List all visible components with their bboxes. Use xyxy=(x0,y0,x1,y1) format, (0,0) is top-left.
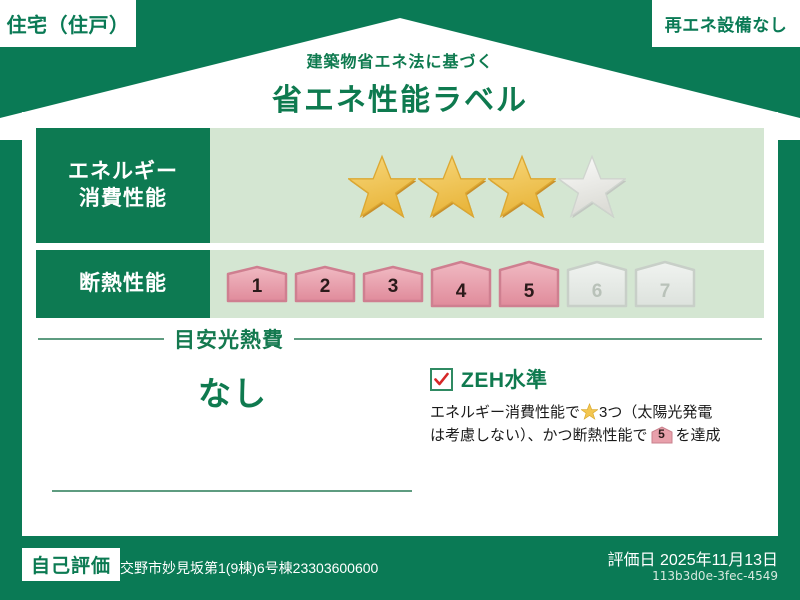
evaluation-type-badge: 自己評価 xyxy=(22,548,120,581)
heading-rule-right xyxy=(294,338,762,340)
zeh-description: エネルギー消費性能で3つ（太陽光発電は考慮しない）、かつ断熱性能で5を達成 xyxy=(430,401,765,448)
star-icon-filled xyxy=(418,153,486,219)
energy-performance-label-box: エネルギー 消費性能 xyxy=(36,128,210,243)
zeh-desc-part1: エネルギー消費性能で xyxy=(430,404,580,421)
insulation-level-scale: 1234567 xyxy=(210,250,764,318)
insulation-label: 断熱性能 xyxy=(79,271,167,297)
energy-cost-value: なし xyxy=(38,367,428,415)
label-subtitle: 建築物省エネ法に基づく xyxy=(0,48,800,72)
insulation-level-badge: 6 xyxy=(566,260,628,308)
energy-performance-row: エネルギー 消費性能 xyxy=(36,128,764,243)
zeh-heading: ZEH水準 xyxy=(430,364,765,394)
energy-label-line2: 消費性能 xyxy=(79,186,167,212)
label-card: エネルギー 消費性能 断熱性能 1234567 目安光熱費 なし xyxy=(22,112,778,536)
property-address: 交野市妙見坂第1(9棟)6号棟23303600600 xyxy=(120,558,378,578)
energy-cost-bottom-rule xyxy=(52,490,412,492)
star-icon-filled xyxy=(488,153,556,219)
insulation-level-badge: 7 xyxy=(634,260,696,308)
star-icon-empty xyxy=(558,153,626,219)
label-title: 省エネ性能ラベル xyxy=(0,75,800,119)
insulation-level-badge: 1 xyxy=(226,265,288,303)
insulation-level-value: 5 xyxy=(498,281,560,303)
insulation-level-value: 6 xyxy=(566,281,628,303)
insulation-level-badge: 3 xyxy=(362,265,424,303)
insulation-level-value: 1 xyxy=(226,276,288,298)
renewable-energy-tag: 再エネ設備なし xyxy=(652,0,800,47)
insulation-level-value: 4 xyxy=(430,281,492,303)
zeh-checkbox xyxy=(430,368,453,391)
zeh-title: ZEH水準 xyxy=(461,364,548,394)
label-footer: 自己評価 交野市妙見坂第1(9棟)6号棟23303600600 評価日 2025… xyxy=(0,536,800,600)
insulation-level-value: 3 xyxy=(362,276,424,298)
star-icon-filled xyxy=(348,153,416,219)
label-title-block: 建築物省エネ法に基づく 省エネ性能ラベル xyxy=(0,48,800,119)
insulation-level-badge: 5 xyxy=(498,260,560,308)
insulation-level-value: 7 xyxy=(634,281,696,303)
zeh-standard-block: ZEH水準 エネルギー消費性能で3つ（太陽光発電は考慮しない）、かつ断熱性能で5… xyxy=(430,364,765,448)
zeh-desc-part2: は考慮しない）、かつ断熱性能で xyxy=(430,427,648,444)
label-id: 113b3d0e-3fec-4549 xyxy=(652,569,778,583)
insulation-level-badge: 2 xyxy=(294,265,356,303)
energy-performance-label: 住宅（住戸） 再エネ設備なし 建築物省エネ法に基づく 省エネ性能ラベル エネルギ… xyxy=(0,0,800,600)
evaluation-date: 評価日 2025年11月13日 xyxy=(608,546,778,570)
energy-cost-heading: 目安光熱費 xyxy=(38,324,762,354)
insulation-performance-label-box: 断熱性能 xyxy=(36,250,210,318)
insulation-level-value: 2 xyxy=(294,276,356,298)
energy-label-line1: エネルギー xyxy=(68,159,178,185)
energy-star-rating xyxy=(210,128,764,243)
building-type-tag: 住宅（住戸） xyxy=(0,0,136,47)
zeh-inline-level-value: 5 xyxy=(651,425,673,444)
check-icon xyxy=(433,371,450,388)
insulation-performance-row: 断熱性能 1234567 xyxy=(36,250,764,318)
insulation-level-badge: 4 xyxy=(430,260,492,308)
star-icon xyxy=(581,403,598,420)
zeh-desc-part3: を達成 xyxy=(676,427,721,444)
energy-cost-heading-text: 目安光熱費 xyxy=(174,324,284,354)
zeh-inline-level-badge: 5 xyxy=(651,426,673,444)
heading-rule-left xyxy=(38,338,164,340)
zeh-desc-star-count: 3つ（太陽光発電 xyxy=(599,404,712,421)
